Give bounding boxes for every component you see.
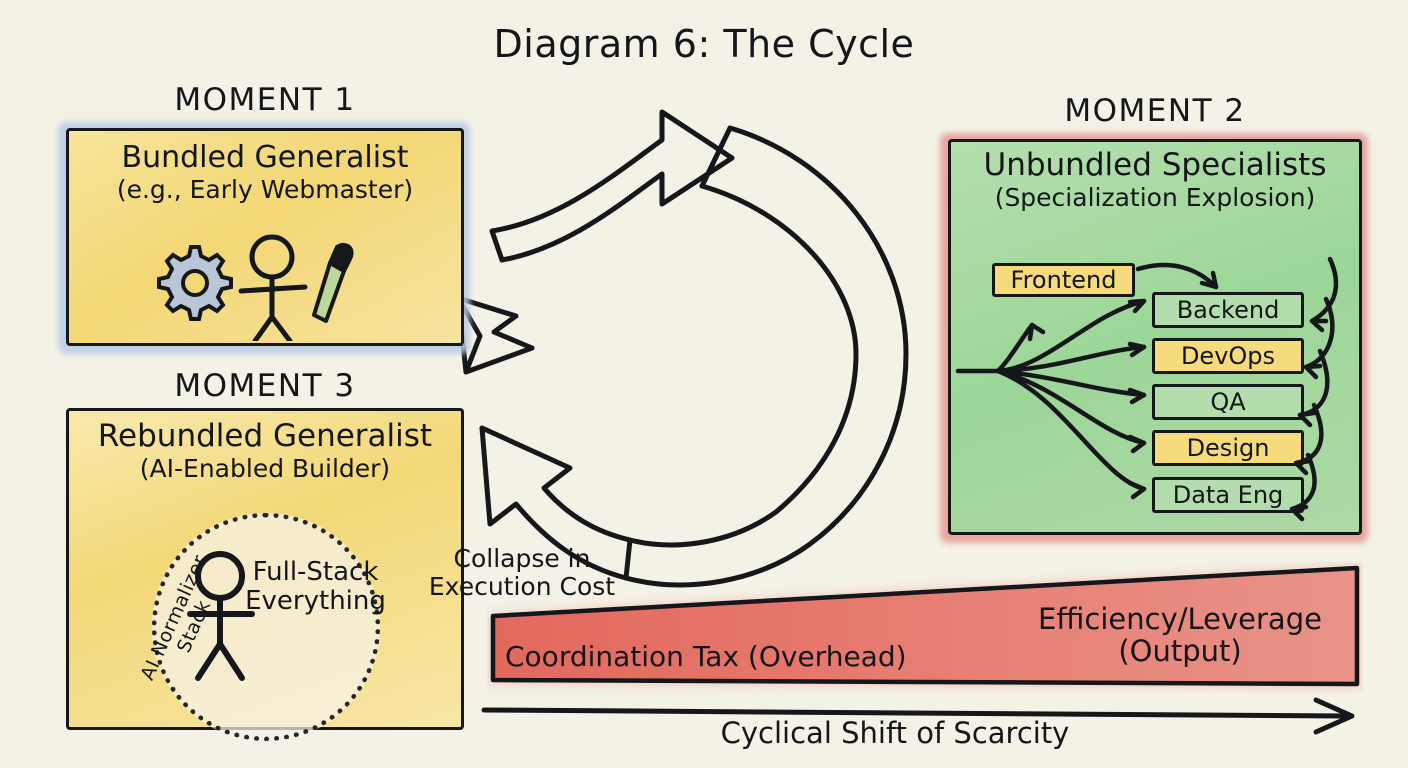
moment-3-subtitle: (AI-Enabled Builder) xyxy=(69,455,461,483)
moment-2-caption: MOMENT 2 xyxy=(948,93,1362,129)
cycle-ring-arrows xyxy=(440,100,960,620)
coordination-tax-label: Coordination Tax (Overhead) xyxy=(505,640,1005,673)
full-stack-line-1: Full-Stack xyxy=(228,558,403,587)
moment-3-caption: MOMENT 3 xyxy=(66,368,464,404)
moment-3-title: Rebundled Generalist xyxy=(69,421,461,453)
efficiency-leverage-label: Efficiency/Leverage (Output) xyxy=(990,604,1370,668)
moment-1-box[interactable]: Bundled Generalist (e.g., Early Webmaste… xyxy=(66,128,464,346)
moment-1-subtitle: (e.g., Early Webmaster) xyxy=(69,176,461,204)
specialist-fanout-arrows xyxy=(948,255,1362,530)
page-title: Diagram 6: The Cycle xyxy=(0,22,1408,66)
moment-2-subtitle: (Specialization Explosion) xyxy=(951,184,1359,212)
full-stack-line-2: Everything xyxy=(228,587,403,616)
moment-1-icon-group xyxy=(151,229,391,341)
efficiency-line-2: (Output) xyxy=(990,636,1370,668)
gear-icon xyxy=(159,247,231,319)
paintbrush-icon xyxy=(314,245,352,321)
full-stack-label: Full-Stack Everything xyxy=(228,558,403,616)
moment-1-caption: MOMENT 1 xyxy=(66,82,464,118)
efficiency-line-1: Efficiency/Leverage xyxy=(990,604,1370,636)
stick-figure-icon xyxy=(241,237,305,341)
moment-1-title: Bundled Generalist xyxy=(69,143,461,174)
moment-2-title: Unbundled Specialists xyxy=(951,150,1359,182)
cyclical-shift-label: Cyclical Shift of Scarcity xyxy=(480,716,1310,750)
diagram-canvas: Diagram 6: The Cycle MOMENT 1 Bundled Ge… xyxy=(0,0,1408,768)
